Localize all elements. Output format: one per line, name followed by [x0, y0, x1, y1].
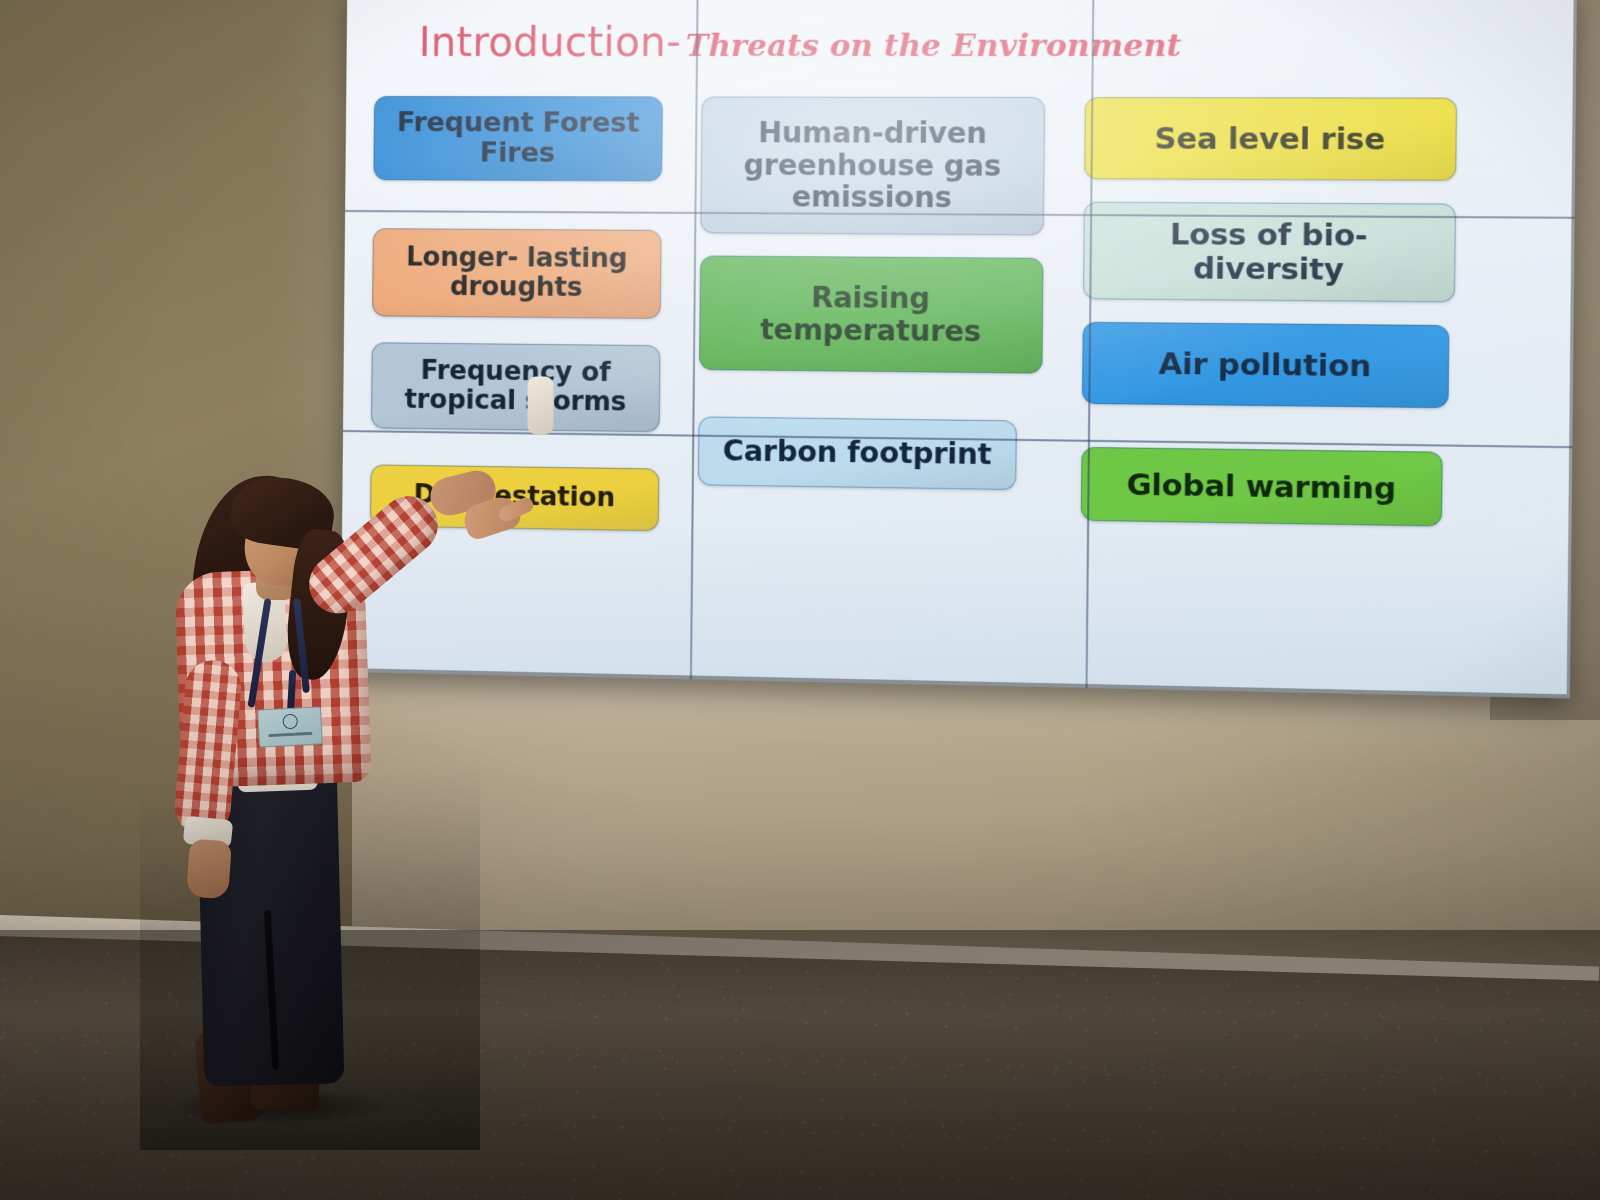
slide-tag: Global warming	[1081, 447, 1443, 527]
slide-column-right: Sea level riseLoss of bio-diversityAir p…	[1081, 97, 1468, 527]
slide-title-main: Introduction-	[419, 20, 682, 67]
hand-left	[186, 839, 232, 900]
presenter	[140, 470, 480, 1150]
slide-title: Introduction- Threats on the Environment	[419, 19, 1182, 66]
slide-tag: Longer- lasting droughts	[372, 228, 662, 319]
slide-tag: Frequent Forest Fires	[373, 96, 663, 181]
slide-tag: Frequency of tropical storms	[371, 342, 660, 432]
badge-logo-icon	[282, 714, 298, 730]
slide-column-left: Frequent Forest FiresLonger- lasting dro…	[370, 96, 677, 531]
slide-tag: Air pollution	[1082, 322, 1449, 408]
slide-column-middle: Human-driven greenhouse gas emissionsRai…	[698, 97, 1064, 491]
cuff-right	[528, 376, 554, 434]
slide-tag: Sea level rise	[1084, 97, 1457, 181]
photo-scene: Introduction- Threats on the Environment…	[0, 0, 1600, 1200]
video-wall-display[interactable]: Introduction- Threats on the Environment…	[341, 0, 1577, 699]
slide-tag: Raising temperatures	[699, 255, 1044, 373]
id-badge	[257, 706, 323, 747]
presentation-slide: Introduction- Threats on the Environment…	[341, 0, 1577, 699]
badge-name-line	[268, 732, 312, 737]
slide-tag: Carbon footprint	[698, 416, 1017, 490]
slide-title-subtitle: Threats on the Environment	[685, 28, 1181, 64]
